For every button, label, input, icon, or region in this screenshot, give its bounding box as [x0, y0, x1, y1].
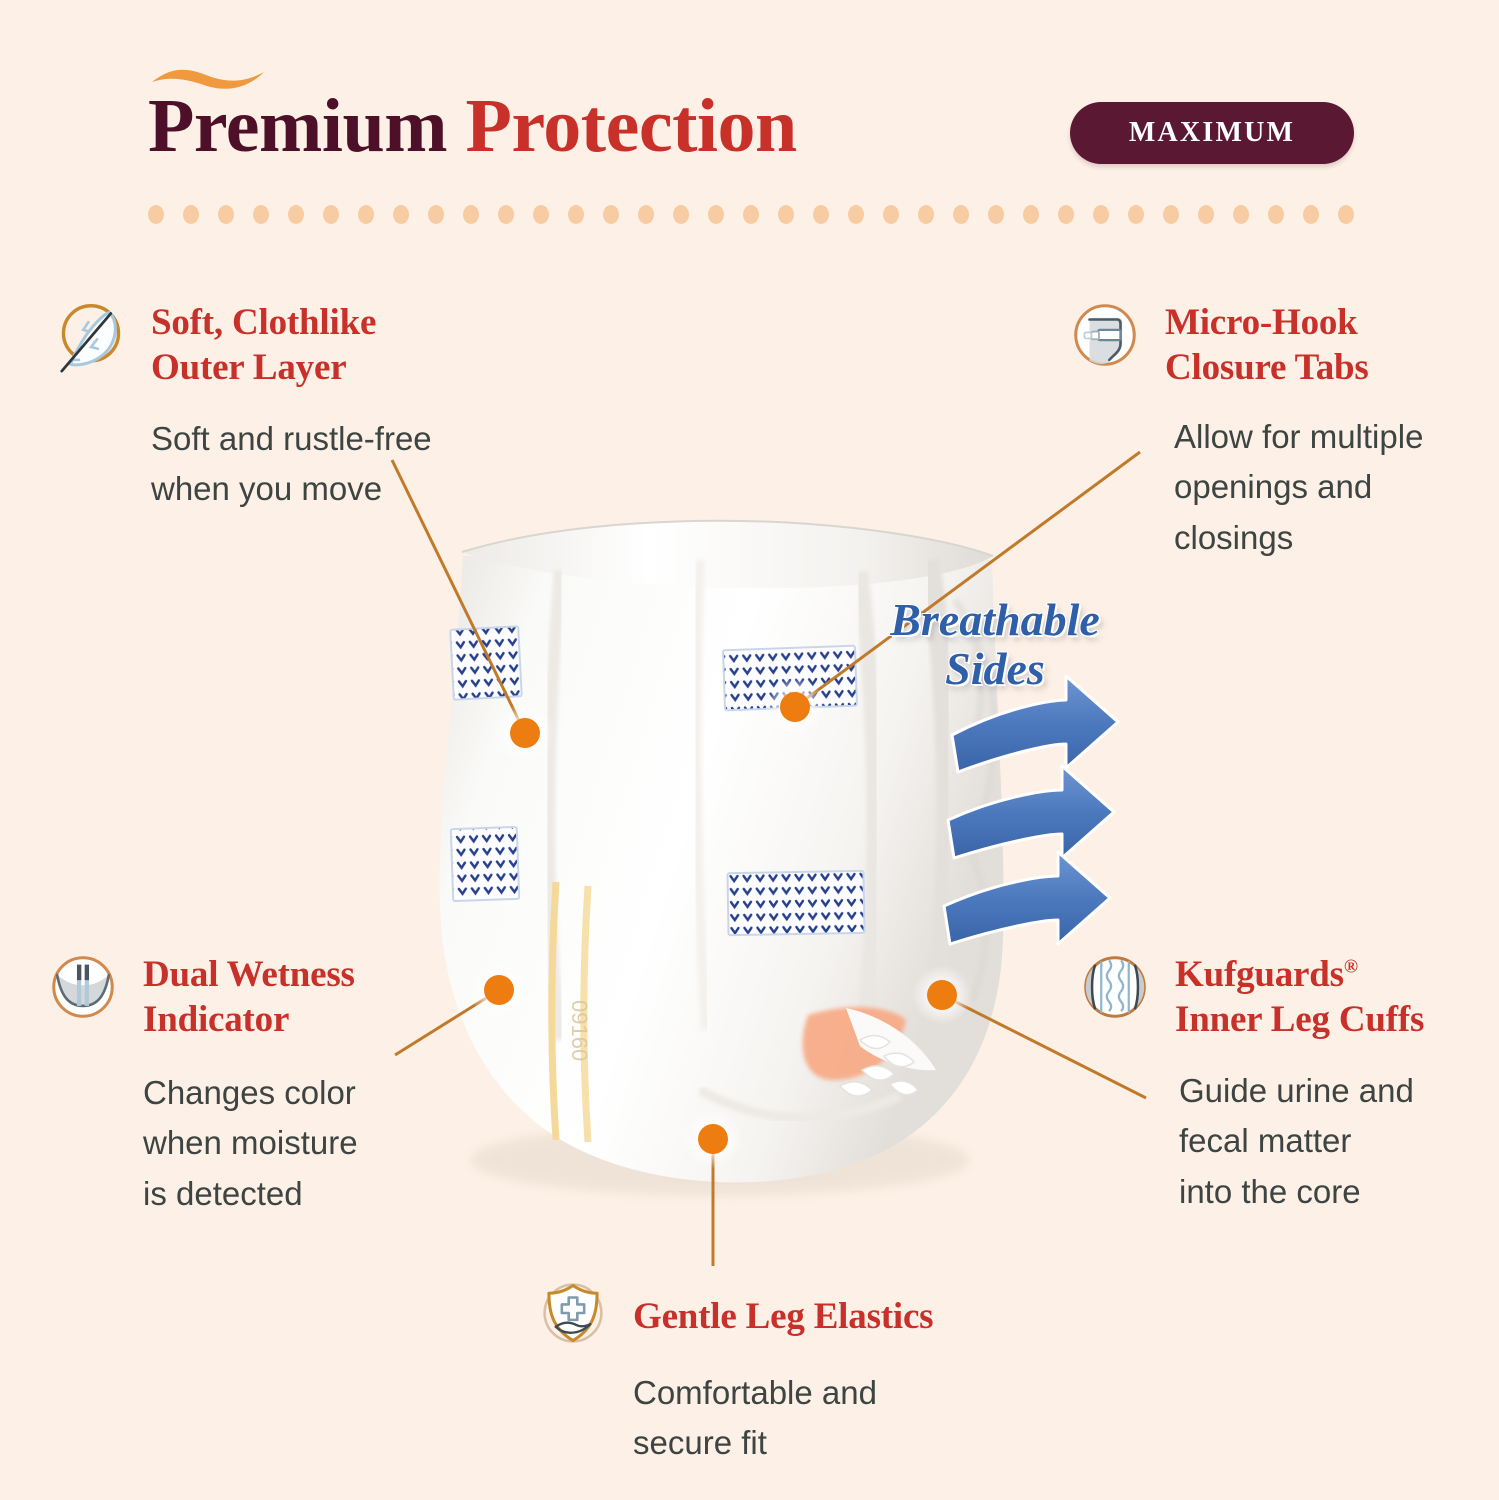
feature-kufguards-inner-leg-cuffs: Kufguards® Inner Leg Cuffs Guide urine a… [1072, 952, 1492, 1217]
infographic-root: Premium Protection MAXIMUM [0, 0, 1499, 1500]
feature-body-line1: Guide urine and [1179, 1072, 1414, 1109]
feature-micro-hook-closure-tabs: Micro-Hook Closure Tabs Allow for multip… [1062, 300, 1492, 563]
feature-body-line2: secure fit [633, 1424, 767, 1461]
feature-title-line1: Dual Wetness [143, 954, 355, 995]
page-title-word-premium: Premium [148, 84, 447, 168]
feature-body: Allow for multiple openings and closings [1174, 412, 1492, 562]
feature-title: Soft, Clothlike Outer Layer [151, 300, 376, 390]
feather-icon [48, 292, 134, 378]
feature-body: Changes color when moisture is detected [143, 1068, 470, 1218]
feature-title-line2: Inner Leg Cuffs [1175, 999, 1424, 1040]
feature-soft-clothlike-outer-layer: Soft, Clothlike Outer Layer Soft and rus… [48, 300, 518, 515]
feature-title-line1: Kufguards [1175, 954, 1344, 995]
feature-body-line3: into the core [1179, 1173, 1361, 1210]
status-badge-label: MAXIMUM [1129, 117, 1295, 149]
divider-dotted-rule [148, 203, 1354, 225]
feature-body-line2: when you move [151, 470, 382, 507]
feature-body-line3: is detected [143, 1175, 303, 1212]
feature-gentle-leg-elastics: Gentle Leg Elastics Comfortable and secu… [530, 1278, 1050, 1468]
feature-body-line1: Changes color [143, 1074, 356, 1111]
page-title-word-protection: Protection [466, 84, 797, 168]
product-illustration: 09160 [0, 0, 1499, 1500]
feature-body-line1: Comfortable and [633, 1374, 877, 1411]
feature-title-line2: Closure Tabs [1165, 347, 1369, 388]
closure-tab-icon [1062, 292, 1148, 378]
registered-trademark: ® [1344, 957, 1358, 978]
feature-title: Kufguards® Inner Leg Cuffs [1175, 952, 1424, 1042]
feature-body-line3: closings [1174, 519, 1293, 556]
callout-dots [469, 677, 972, 1169]
page-title: Premium Protection [148, 88, 797, 164]
status-badge: MAXIMUM [1070, 102, 1354, 164]
feature-title-line1: Soft, Clothlike [151, 302, 376, 343]
feature-body: Soft and rustle-free when you move [151, 414, 518, 514]
leg-cuffs-icon [1072, 944, 1158, 1030]
feature-body-line1: Allow for multiple [1174, 418, 1423, 455]
feature-body-line2: fecal matter [1179, 1122, 1351, 1159]
breathable-sides-label: Breathable Sides [870, 596, 1120, 694]
breathable-sides-line1: Breathable [870, 596, 1120, 645]
feature-title-line1: Gentle Leg Elastics [633, 1296, 933, 1337]
feature-dual-wetness-indicator: Dual Wetness Indicator Changes color whe… [40, 952, 470, 1219]
feature-title: Dual Wetness Indicator [143, 952, 355, 1042]
feature-title: Micro-Hook Closure Tabs [1165, 300, 1369, 390]
feature-title-line2: Outer Layer [151, 347, 346, 388]
feature-body-line2: openings and [1174, 468, 1372, 505]
svg-text:09160: 09160 [567, 1000, 592, 1061]
feature-title-line2: Indicator [143, 999, 289, 1040]
airflow-arrows [944, 676, 1118, 944]
closure-tab-patch [450, 626, 864, 935]
feature-body-line1: Soft and rustle-free [151, 420, 432, 457]
feature-body-line2: when moisture [143, 1124, 358, 1161]
feature-body: Comfortable and secure fit [633, 1368, 1050, 1468]
feature-title: Gentle Leg Elastics [633, 1294, 933, 1339]
shield-hand-icon [530, 1270, 616, 1356]
feature-body: Guide urine and fecal matter into the co… [1179, 1066, 1492, 1216]
callout-connectors [392, 452, 1146, 1266]
feature-title-line1: Micro-Hook [1165, 302, 1358, 343]
wetness-indicator-icon [40, 944, 126, 1030]
breathable-sides-line2: Sides [870, 645, 1120, 694]
